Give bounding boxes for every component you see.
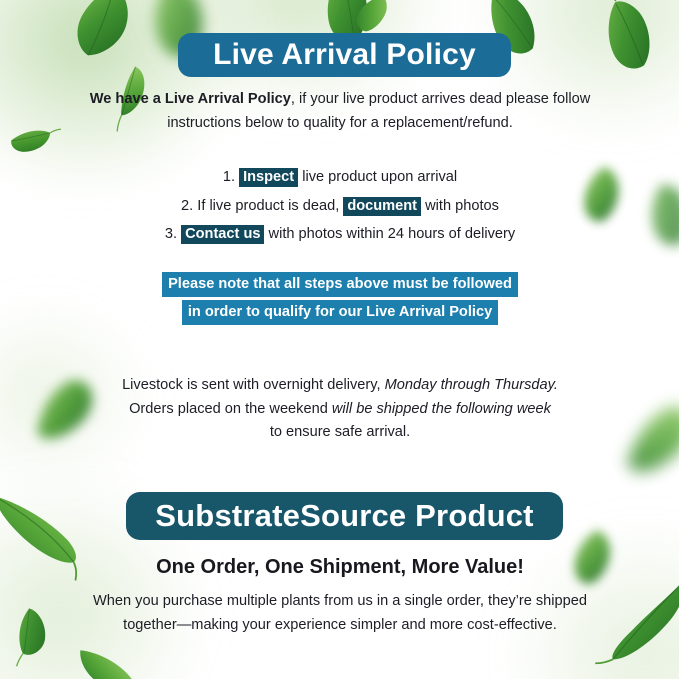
step-item: 3. Contact us with photos within 24 hour… — [100, 220, 580, 249]
step-number: 1. — [223, 169, 235, 185]
policy-note-block: Please note that all steps above must be… — [100, 272, 580, 328]
step-number: 2. — [181, 198, 193, 214]
leaf-decoration — [58, 0, 147, 69]
leaf-decoration — [65, 635, 148, 679]
step-post-text: with photos within 24 hours of delivery — [269, 226, 516, 242]
step-item: 2. If live product is dead, document wit… — [100, 192, 580, 221]
leaf-decoration-blurred — [635, 176, 679, 253]
substratesource-product-banner: SubstrateSource Product — [126, 492, 563, 540]
shipping-line2-plain: Orders placed on the weekend — [129, 401, 332, 417]
value-heading: One Order, One Shipment, More Value! — [70, 556, 610, 579]
steps-list: 1. Inspect live product upon arrival 2. … — [100, 163, 580, 249]
step-post-text: with photos — [425, 198, 499, 214]
step-pre-text: If live product is dead, — [197, 198, 339, 214]
intro-paragraph: We have a Live Arrival Policy, if your l… — [70, 88, 610, 135]
shipping-line1-emphasis: Monday through Thursday. — [385, 377, 558, 393]
step-highlight: document — [343, 197, 421, 216]
leaf-decoration — [586, 0, 668, 80]
leaf-decoration-blurred — [608, 395, 679, 485]
leaf-decoration — [591, 575, 679, 665]
step-item: 1. Inspect live product upon arrival — [100, 163, 580, 192]
leaf-decoration — [2, 110, 59, 167]
shipping-line2-emphasis: will be shipped the following week — [332, 401, 551, 417]
step-post-text: live product upon arrival — [302, 169, 457, 185]
note-line-1: Please note that all steps above must be… — [162, 272, 518, 297]
banner-bottom-title: SubstrateSource Product — [155, 498, 533, 534]
shipping-line3: to ensure safe arrival. — [270, 424, 410, 440]
value-paragraph: When you purchase multiple plants from u… — [80, 590, 600, 637]
leaf-decoration — [1, 598, 61, 662]
step-highlight: Inspect — [239, 168, 298, 187]
intro-lead: We have a Live Arrival Policy — [90, 91, 291, 107]
leaf-decoration-blurred — [574, 162, 628, 226]
shipping-paragraph: Livestock is sent with overnight deliver… — [95, 374, 585, 445]
shipping-line1-plain: Livestock is sent with overnight deliver… — [122, 377, 385, 393]
live-arrival-policy-banner: Live Arrival Policy — [178, 33, 511, 77]
live-arrival-policy-poster: Live Arrival Policy We have a Live Arriv… — [0, 0, 679, 679]
banner-top-title: Live Arrival Policy — [213, 38, 476, 72]
step-number: 3. — [165, 226, 177, 242]
step-highlight: Contact us — [181, 225, 264, 244]
note-line-2: in order to qualify for our Live Arrival… — [182, 300, 498, 325]
